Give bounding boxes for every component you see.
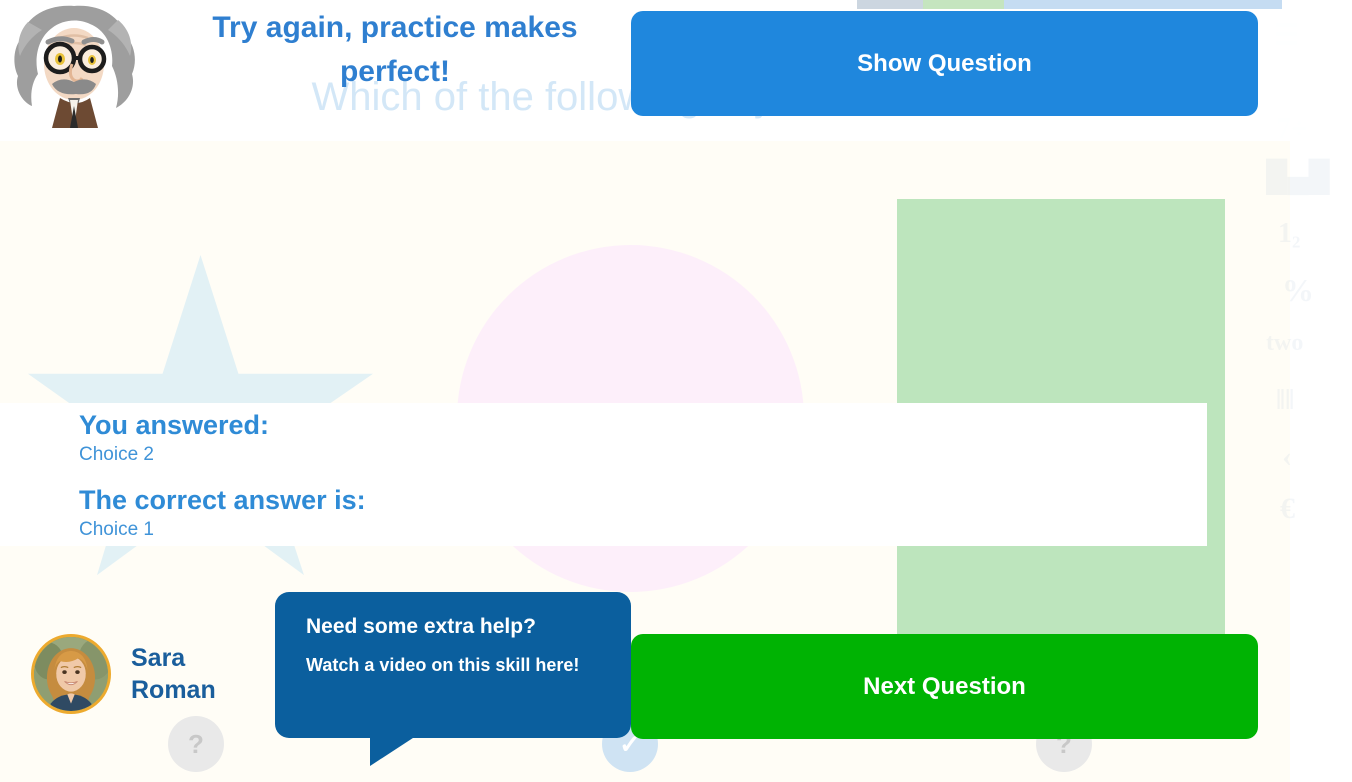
help-bubble-title: Need some extra help? [306,614,536,639]
user-photo-avatar [31,634,111,714]
answer-feedback-panel: You answered: Choice 2 The correct answe… [0,403,1207,546]
feedback-message: Try again, practice makes perfect! [180,6,610,95]
your-answer-label: You answered: [79,409,269,441]
your-answer-block: You answered: Choice 2 [79,409,269,469]
correct-answer-label: The correct answer is: [79,484,366,516]
einstein-mascot-icon [8,2,140,128]
user-first-name: Sara [131,642,226,674]
next-question-button[interactable]: Next Question [631,634,1258,739]
your-answer-value: Choice 2 [79,441,269,469]
progress-segment-correct [923,0,1004,9]
quiz-feedback-screen: ☰ 7÷ █▄█ 1₂ % two ‖‖ ‹ € Which of the fo… [0,0,1352,782]
progress-segment-remaining [1004,0,1282,9]
correct-answer-value: Choice 1 [79,516,366,544]
progress-segment-unanswered [857,0,923,9]
correct-answer-block: The correct answer is: Choice 1 [79,484,366,544]
progress-bar [857,0,1282,9]
user-profile-badge[interactable]: Sara Roman [31,631,251,717]
extra-help-bubble[interactable]: Need some extra help? Watch a video on t… [275,592,631,738]
status-circle-unknown-1[interactable]: ? [168,716,224,772]
user-name: Sara Roman [131,642,226,706]
help-bubble-body: Watch a video on this skill here! [306,648,586,682]
show-question-button[interactable]: Show Question [631,11,1258,116]
user-last-name: Roman [131,674,226,706]
